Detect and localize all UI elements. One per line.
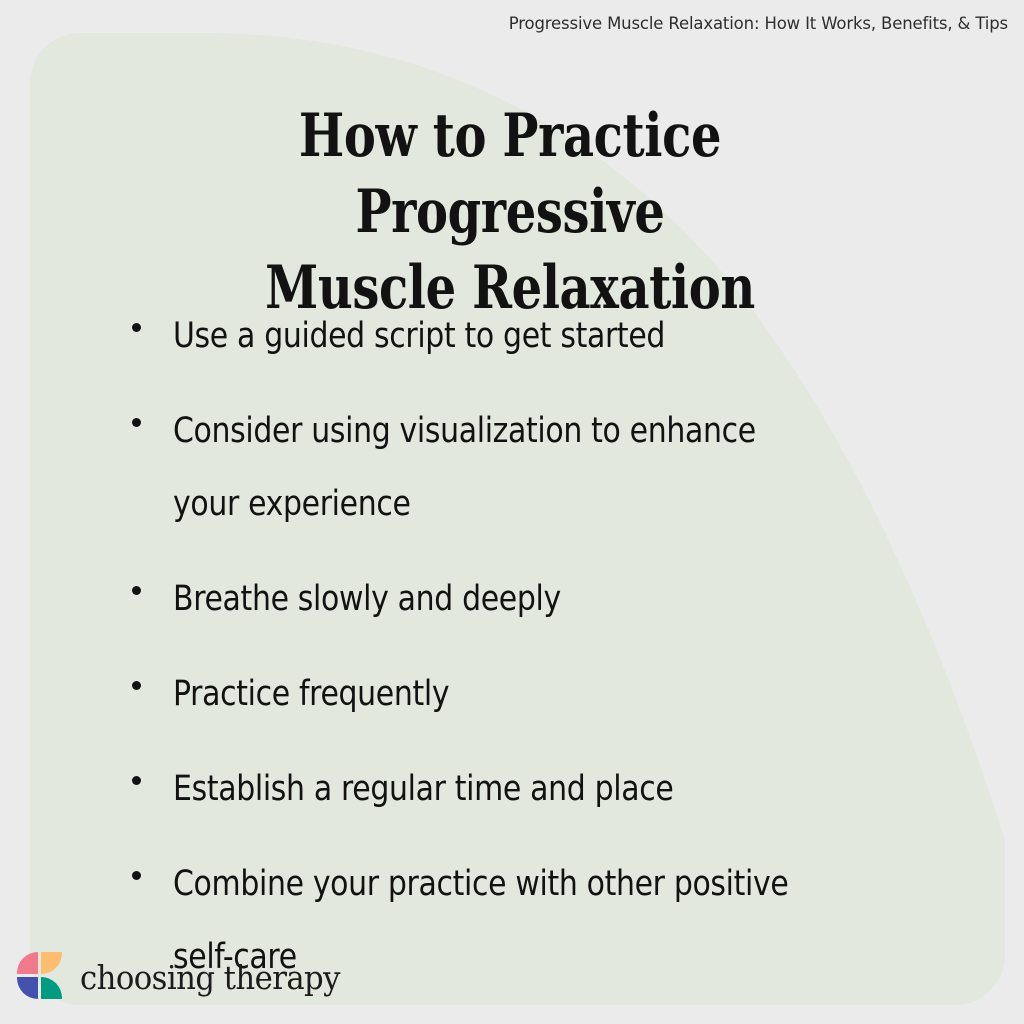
list-item: Practice frequently	[132, 658, 932, 731]
petal-bottom-left	[17, 977, 38, 999]
petal-top-left	[17, 952, 38, 974]
bullet-dot-icon	[132, 323, 141, 332]
brand-logo[interactable]: choosing therapy	[17, 952, 360, 1002]
header-bar: Progressive Muscle Relaxation: How It Wo…	[0, 0, 1024, 46]
list-item-label: Practice frequently	[173, 658, 822, 731]
page-title-text: How to Practice Progressive Muscle Relax…	[150, 98, 870, 326]
petal-bottom-right	[41, 977, 62, 999]
article-title-header: Progressive Muscle Relaxation: How It Wo…	[509, 14, 1008, 33]
bullet-dot-icon	[132, 586, 141, 595]
brand-wordmark: choosing therapy	[80, 961, 340, 994]
page-title: How to Practice Progressive Muscle Relax…	[60, 98, 960, 326]
list-item-label: Establish a regular time and place	[173, 753, 822, 826]
tips-list: Use a guided script to get started Consi…	[132, 300, 932, 1016]
list-item-label: Use a guided script to get started	[173, 300, 822, 373]
list-item-label: Breathe slowly and deeply	[173, 563, 822, 636]
bullet-dot-icon	[132, 681, 141, 690]
list-item: Consider using visualization to enhance …	[132, 395, 932, 541]
bullet-dot-icon	[132, 418, 141, 427]
page-title-line-1: How to Practice Progressive	[150, 98, 870, 250]
choosing-therapy-petal-mark-icon	[17, 952, 65, 1002]
list-item: Establish a regular time and place	[132, 753, 932, 826]
list-item: Use a guided script to get started	[132, 300, 932, 373]
bullet-dot-icon	[132, 776, 141, 785]
list-item: Breathe slowly and deeply	[132, 563, 932, 636]
petal-top-right	[41, 952, 62, 974]
list-item-label: Consider using visualization to enhance …	[173, 395, 822, 541]
infographic-canvas: Progressive Muscle Relaxation: How It Wo…	[0, 0, 1024, 1024]
bullet-dot-icon	[132, 871, 141, 880]
